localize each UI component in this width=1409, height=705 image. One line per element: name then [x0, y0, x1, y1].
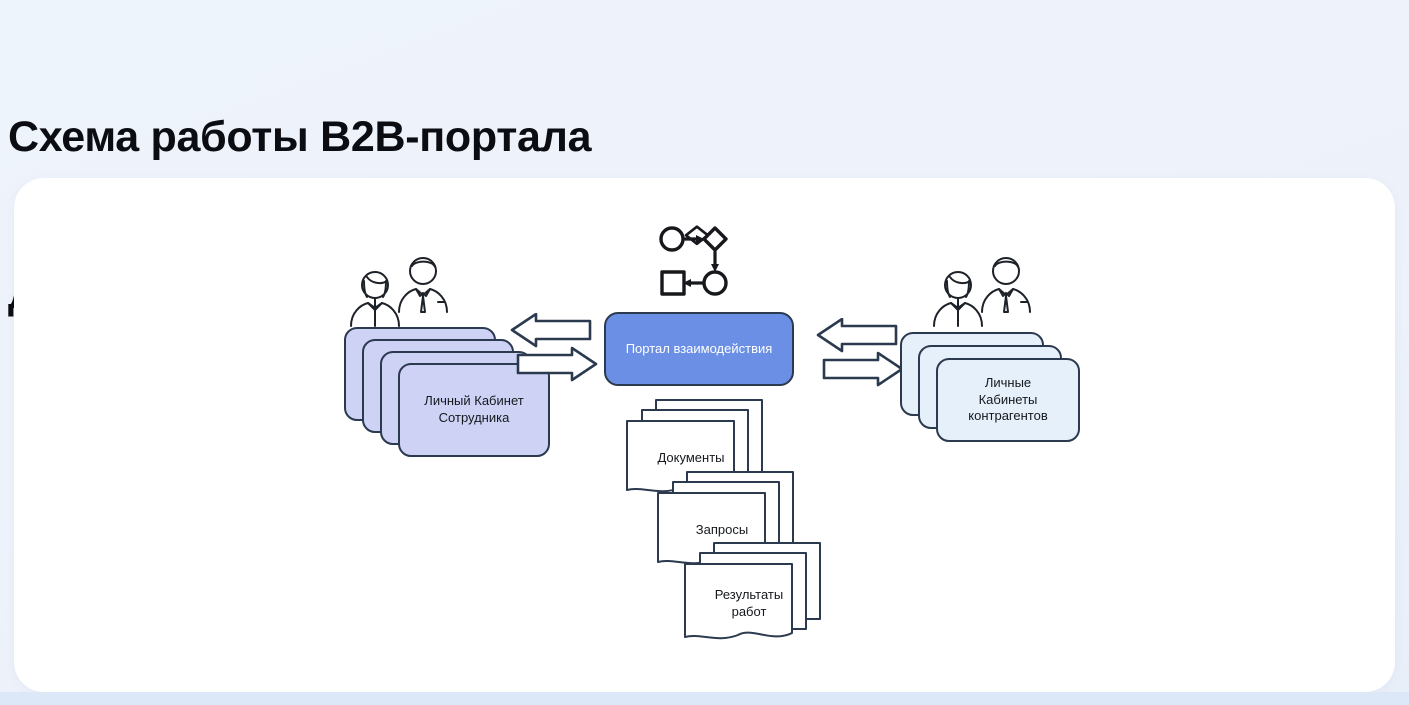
workflow-process-icon — [658, 222, 742, 300]
arrow-right-bottom — [518, 348, 596, 380]
businessman-avatar-icon — [982, 258, 1030, 312]
node-results-stack[interactable]: Результаты работ — [682, 541, 822, 656]
counterparty-card-front[interactable]: Личные Кабинеты контрагентов — [936, 358, 1080, 442]
connector-right-double-arrow — [812, 318, 908, 390]
arrow-left-top — [818, 319, 896, 351]
node-portal-label: Портал взаимодействия — [626, 341, 773, 357]
woman-avatar-icon — [934, 272, 982, 326]
connector-left-double-arrow — [506, 313, 602, 385]
arrow-right-bottom — [824, 353, 902, 385]
requests-stack-label: Запросы — [657, 522, 787, 539]
woman-avatar-icon — [351, 272, 399, 326]
node-portal[interactable]: Портал взаимодействия — [604, 312, 794, 386]
results-stack-label: Результаты работ — [684, 587, 814, 621]
page-title-line-1: Схема работы B2B-портала — [8, 111, 1208, 163]
node-counterparty-cabinets[interactable]: Личные Кабинеты контрагентов — [900, 332, 1080, 447]
documents-stack-label: Документы — [626, 450, 756, 467]
bottom-accent-strip — [0, 692, 1409, 705]
employee-card-label: Личный Кабинет Сотрудника — [424, 393, 523, 427]
businessman-avatar-icon — [399, 258, 447, 312]
people-group-counterparties — [928, 252, 1038, 330]
arrow-left-top — [512, 314, 590, 346]
people-group-employees — [345, 252, 455, 330]
counterparty-card-label: Личные Кабинеты контрагентов — [968, 375, 1047, 426]
